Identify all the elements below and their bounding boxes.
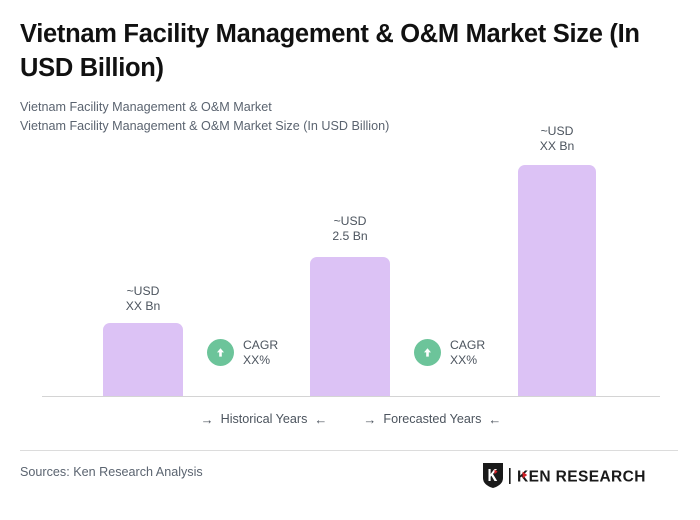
arrow-up-icon bbox=[207, 339, 234, 366]
cagr-text-historical: CAGR XX% bbox=[243, 338, 278, 367]
ken-research-wordmark: KEN RESEARCH bbox=[509, 467, 667, 485]
bar-value-label-current-line2: 2.5 Bn bbox=[310, 229, 390, 244]
sources-text: Sources: Ken Research Analysis bbox=[20, 465, 203, 479]
arrow-left-icon: ← bbox=[314, 413, 327, 426]
period-historical-label: Historical Years bbox=[221, 412, 308, 426]
bar-forecast bbox=[518, 165, 596, 396]
arrow-up-icon bbox=[414, 339, 441, 366]
bar-historical bbox=[103, 323, 183, 396]
cagr-label-historical: CAGR bbox=[243, 338, 278, 353]
bar-value-label-forecast-line2: XX Bn bbox=[518, 139, 596, 154]
footer-divider bbox=[20, 450, 678, 451]
bar-value-label-historical-line1: ~USD bbox=[103, 284, 183, 299]
bar-value-label-historical-line2: XX Bn bbox=[103, 299, 183, 314]
bar-current bbox=[310, 257, 390, 396]
period-historical: → Historical Years ← bbox=[201, 412, 328, 426]
cagr-value-forecast: XX% bbox=[450, 353, 485, 368]
cagr-value-historical: XX% bbox=[243, 353, 278, 368]
arrow-left-icon: ← bbox=[488, 413, 501, 426]
page-title: Vietnam Facility Management & O&M Market… bbox=[20, 18, 680, 86]
cagr-label-forecast: CAGR bbox=[450, 338, 485, 353]
bar-value-label-current-line1: ~USD bbox=[310, 214, 390, 229]
subtitle-line-1: Vietnam Facility Management & O&M Market bbox=[20, 98, 660, 117]
arrow-right-icon: → bbox=[201, 413, 214, 426]
period-forecast: → Forecasted Years ← bbox=[363, 412, 501, 426]
cagr-text-forecast: CAGR XX% bbox=[450, 338, 485, 367]
period-legend: → Historical Years ← → Forecasted Years … bbox=[42, 406, 660, 432]
arrow-right-icon: → bbox=[363, 413, 376, 426]
subtitle-block: Vietnam Facility Management & O&M Market… bbox=[20, 98, 660, 136]
axis-baseline bbox=[42, 396, 660, 397]
subtitle-line-2: Vietnam Facility Management & O&M Market… bbox=[20, 117, 660, 136]
ken-research-logo: KEN RESEARCH bbox=[482, 462, 667, 489]
period-forecast-label: Forecasted Years bbox=[383, 412, 481, 426]
bar-value-label-current: ~USD 2.5 Bn bbox=[310, 214, 390, 243]
shield-logo-icon bbox=[482, 462, 504, 489]
svg-text:KEN RESEARCH: KEN RESEARCH bbox=[517, 468, 646, 485]
cagr-badge-forecast: CAGR XX% bbox=[414, 338, 485, 367]
chart-page: Vietnam Facility Management & O&M Market… bbox=[0, 0, 700, 520]
bar-value-label-historical: ~USD XX Bn bbox=[103, 284, 183, 313]
cagr-badge-historical: CAGR XX% bbox=[207, 338, 278, 367]
